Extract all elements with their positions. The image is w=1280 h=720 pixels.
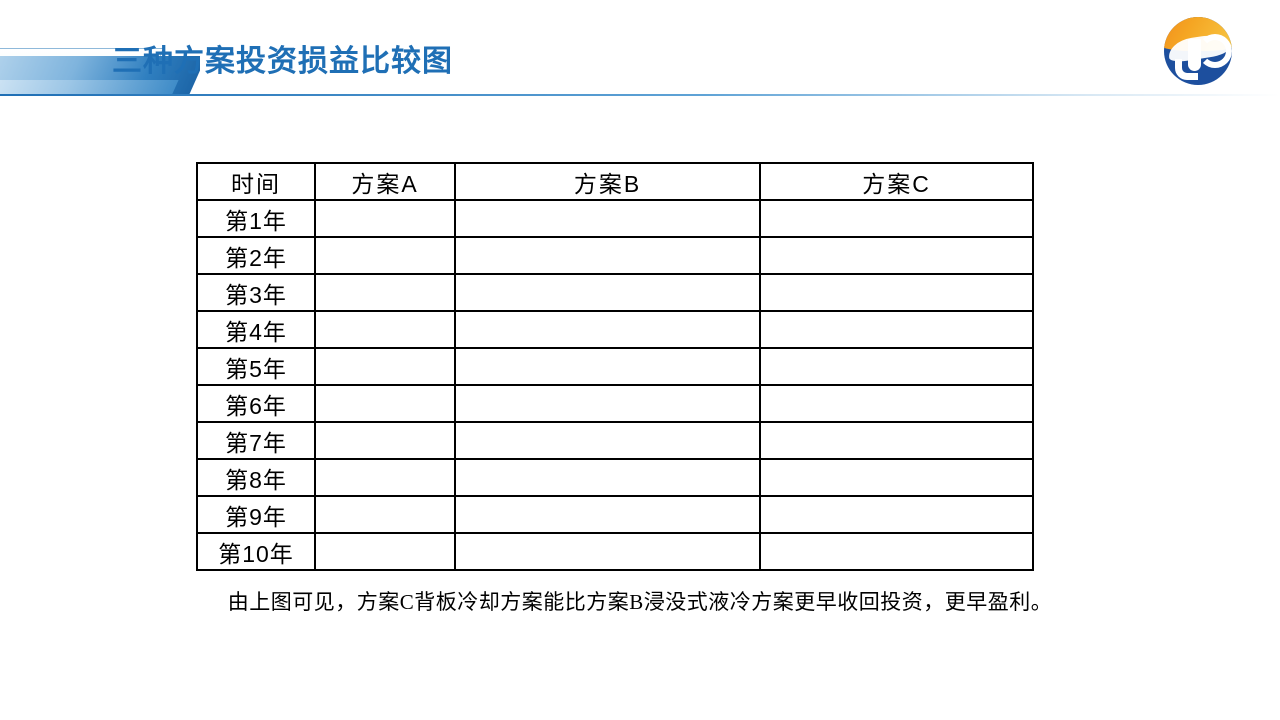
table-cell-plan-c: 38840 bbox=[760, 533, 1033, 570]
row-label-year: 第2年 bbox=[197, 237, 315, 274]
column-header-time: 时间 bbox=[197, 163, 315, 200]
table-row: 第5年-40000-42164-4960 bbox=[197, 348, 1033, 385]
table-cell-plan-b: -13787 bbox=[455, 459, 760, 496]
header-divider bbox=[0, 94, 1280, 96]
table-cell-plan-b: -51623 bbox=[455, 311, 760, 348]
table-row: 第8年-40000-1378721320 bbox=[197, 459, 1033, 496]
table-cell-plan-a: -40000 bbox=[315, 496, 455, 533]
table-cell-plan-b: -32705 bbox=[455, 385, 760, 422]
slide-caption: 由上图可见，方案C背板冷却方案能比方案B浸没式液冷方案更早收回投资，更早盈利。 bbox=[0, 586, 1280, 616]
table-row: 第10年-40000513138840 bbox=[197, 533, 1033, 570]
row-label-year: 第8年 bbox=[197, 459, 315, 496]
table-row: 第3年-40000-61082-22480 bbox=[197, 274, 1033, 311]
comparison-table-wrap: 时间 方案A 方案B 方案C 第1年-40000-80000-40000第2年-… bbox=[196, 162, 1032, 571]
column-header-plan-c: 方案C bbox=[760, 163, 1033, 200]
table-cell-plan-a: -40000 bbox=[315, 459, 455, 496]
table-row: 第9年-40000-432830080 bbox=[197, 496, 1033, 533]
row-label-year: 第10年 bbox=[197, 533, 315, 570]
column-header-plan-b: 方案B bbox=[455, 163, 760, 200]
table-cell-plan-b: -42164 bbox=[455, 348, 760, 385]
company-logo-icon bbox=[1164, 17, 1232, 85]
row-label-year: 第3年 bbox=[197, 274, 315, 311]
table-cell-plan-b: -23246 bbox=[455, 422, 760, 459]
table-cell-plan-c: 3800 bbox=[760, 385, 1033, 422]
table-cell-plan-a: -40000 bbox=[315, 237, 455, 274]
row-label-year: 第5年 bbox=[197, 348, 315, 385]
table-cell-plan-c: -31240 bbox=[760, 237, 1033, 274]
column-header-plan-a: 方案A bbox=[315, 163, 455, 200]
table-cell-plan-a: -40000 bbox=[315, 348, 455, 385]
table-cell-plan-c: -4960 bbox=[760, 348, 1033, 385]
table-cell-plan-c: -13720 bbox=[760, 311, 1033, 348]
table-cell-plan-a: -40000 bbox=[315, 533, 455, 570]
table-cell-plan-a: -40000 bbox=[315, 311, 455, 348]
table-row: 第7年-40000-2324612560 bbox=[197, 422, 1033, 459]
table-cell-plan-c: 21320 bbox=[760, 459, 1033, 496]
row-label-year: 第6年 bbox=[197, 385, 315, 422]
row-label-year: 第4年 bbox=[197, 311, 315, 348]
row-label-year: 第1年 bbox=[197, 200, 315, 237]
row-label-year: 第9年 bbox=[197, 496, 315, 533]
row-label-year: 第7年 bbox=[197, 422, 315, 459]
table-cell-plan-b: -61082 bbox=[455, 274, 760, 311]
table-cell-plan-b: -80000 bbox=[455, 200, 760, 237]
table-cell-plan-b: -4328 bbox=[455, 496, 760, 533]
table-cell-plan-a: -40000 bbox=[315, 274, 455, 311]
table-cell-plan-a: -40000 bbox=[315, 200, 455, 237]
table-cell-plan-c: -22480 bbox=[760, 274, 1033, 311]
logo-p-shape bbox=[1198, 34, 1232, 68]
table-cell-plan-a: -40000 bbox=[315, 422, 455, 459]
table-row: 第4年-40000-51623-13720 bbox=[197, 311, 1033, 348]
table-header-row: 时间 方案A 方案B 方案C bbox=[197, 163, 1033, 200]
table-cell-plan-b: 5131 bbox=[455, 533, 760, 570]
table-row: 第1年-40000-80000-40000 bbox=[197, 200, 1033, 237]
table-cell-plan-b: -70541 bbox=[455, 237, 760, 274]
logo-j-shape bbox=[1188, 39, 1201, 71]
table-cell-plan-c: 30080 bbox=[760, 496, 1033, 533]
table-cell-plan-a: -40000 bbox=[315, 385, 455, 422]
table-body: 第1年-40000-80000-40000第2年-40000-70541-312… bbox=[197, 200, 1033, 570]
slide-header: 三种方案投资损益比较图 bbox=[0, 0, 1280, 100]
page-title: 三种方案投资损益比较图 bbox=[112, 36, 453, 80]
investment-comparison-table: 时间 方案A 方案B 方案C 第1年-40000-80000-40000第2年-… bbox=[196, 162, 1034, 571]
slide-canvas: 三种方案投资损益比较图 时间 方案A 方案B 方案C 第1年-40000-800… bbox=[0, 0, 1280, 720]
table-row: 第2年-40000-70541-31240 bbox=[197, 237, 1033, 274]
table-cell-plan-c: 12560 bbox=[760, 422, 1033, 459]
table-cell-plan-c: -40000 bbox=[760, 200, 1033, 237]
table-row: 第6年-40000-327053800 bbox=[197, 385, 1033, 422]
